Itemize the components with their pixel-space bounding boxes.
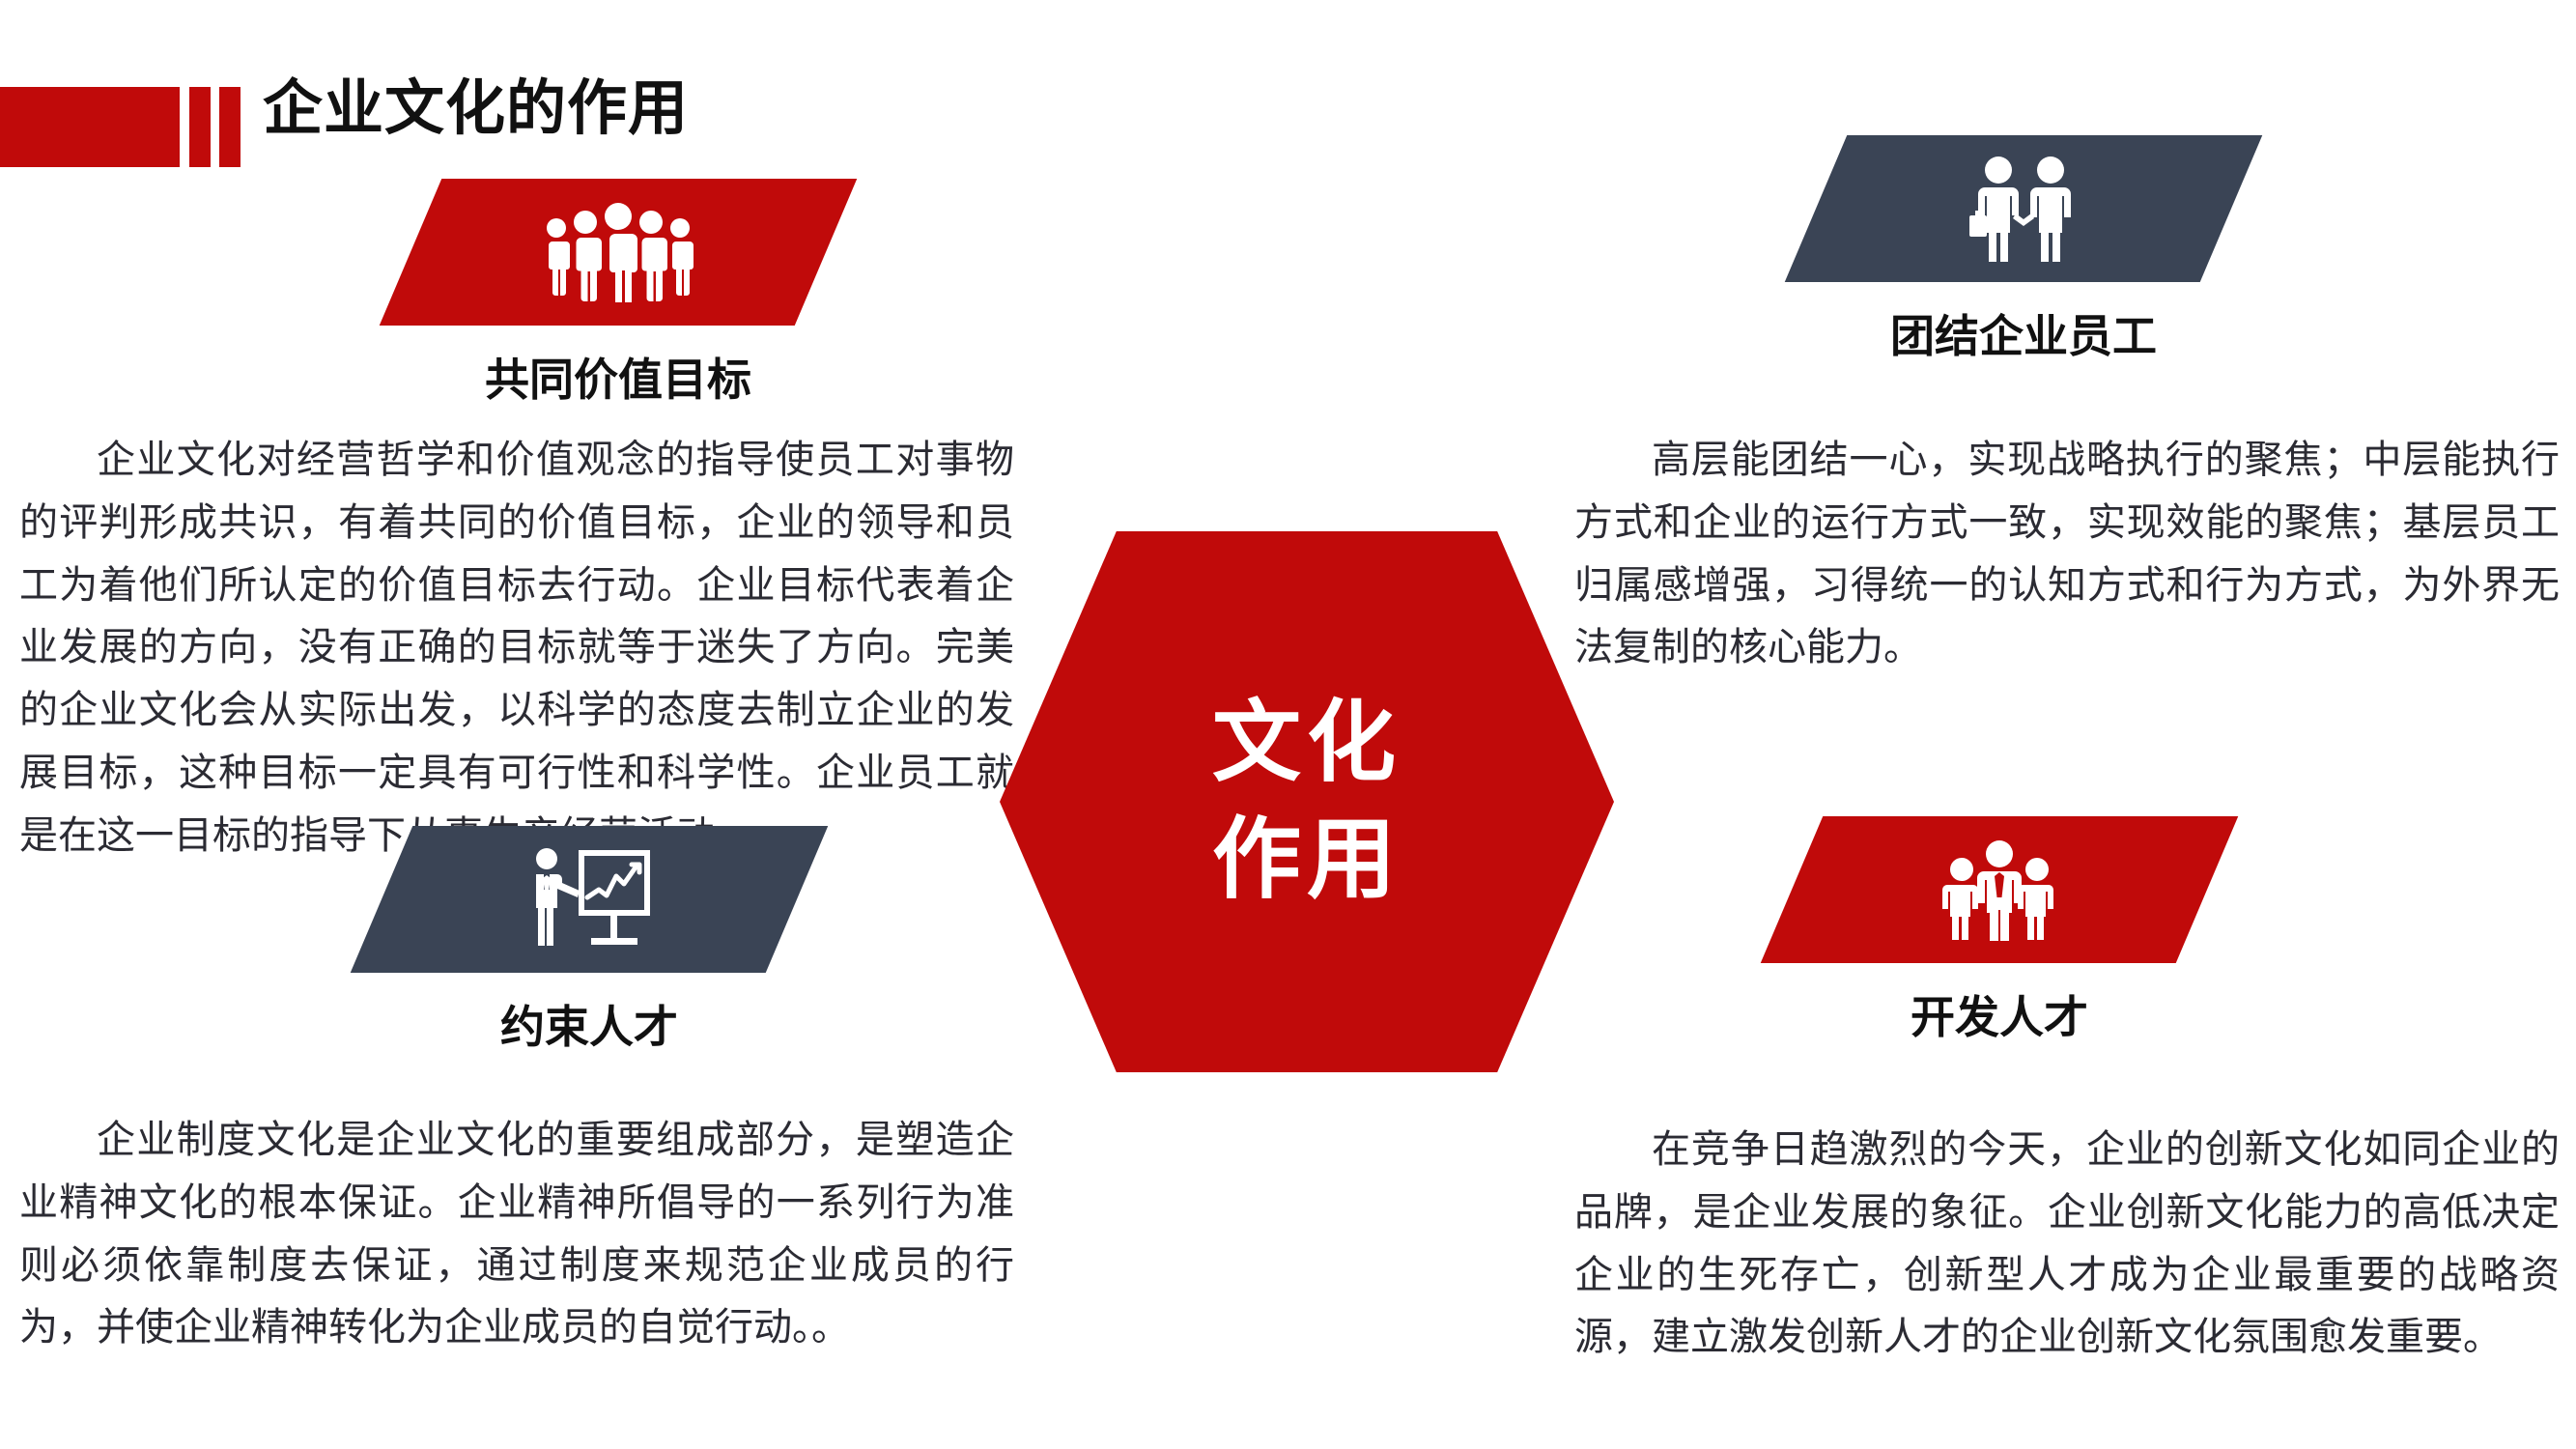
header-accent-bar-wide	[0, 87, 180, 167]
center-hexagon-line-2: 作用	[1212, 802, 1401, 919]
card-body-shared-value-goal: 企业文化对经营哲学和价值观念的指导使员工对事物的评判形成共识，有着共同的价值目标…	[19, 429, 1014, 867]
center-hexagon: 文化 作用	[1000, 531, 1614, 1072]
center-hexagon-line-1: 文化	[1212, 685, 1401, 802]
card-body-develop-talent: 在竞争日趋激烈的今天，企业的创新文化如同企业的品牌，是企业发展的象征。企业创新文…	[1574, 1119, 2560, 1369]
parallelogram-dark	[351, 826, 829, 973]
card-body-constrain-talent: 企业制度文化是企业文化的重要组成部分，是塑造企业精神文化的根本保证。企业精神所倡…	[19, 1109, 1014, 1359]
card-title-constrain-talent: 约束人才	[319, 1005, 860, 1049]
card-shape-develop-talent	[1792, 816, 2207, 963]
header-accent-bar-narrow-1	[189, 87, 211, 167]
header-accent-bar-narrow-2	[219, 87, 241, 167]
card-body-unite-employees: 高层能团结一心，实现战略执行的聚焦；中层能执行方式和企业的运行方式一致，实现效能…	[1574, 429, 2560, 679]
card-title-develop-talent: 开发人才	[1729, 995, 2270, 1039]
card-shape-shared-value-goal	[410, 179, 826, 326]
card-shape-constrain-talent	[382, 826, 797, 973]
parallelogram-red	[380, 179, 858, 326]
card-shape-unite-employees	[1816, 135, 2231, 282]
card-title-shared-value-goal: 共同价值目标	[348, 357, 889, 402]
parallelogram-red	[1761, 816, 2239, 963]
card-title-unite-employees: 团结企业员工	[1753, 314, 2294, 358]
page-title: 企业文化的作用	[263, 79, 689, 139]
slide-canvas: 企业文化的作用 共同价值目标 企业文化对经营	[0, 0, 2576, 1449]
parallelogram-dark	[1785, 135, 2263, 282]
